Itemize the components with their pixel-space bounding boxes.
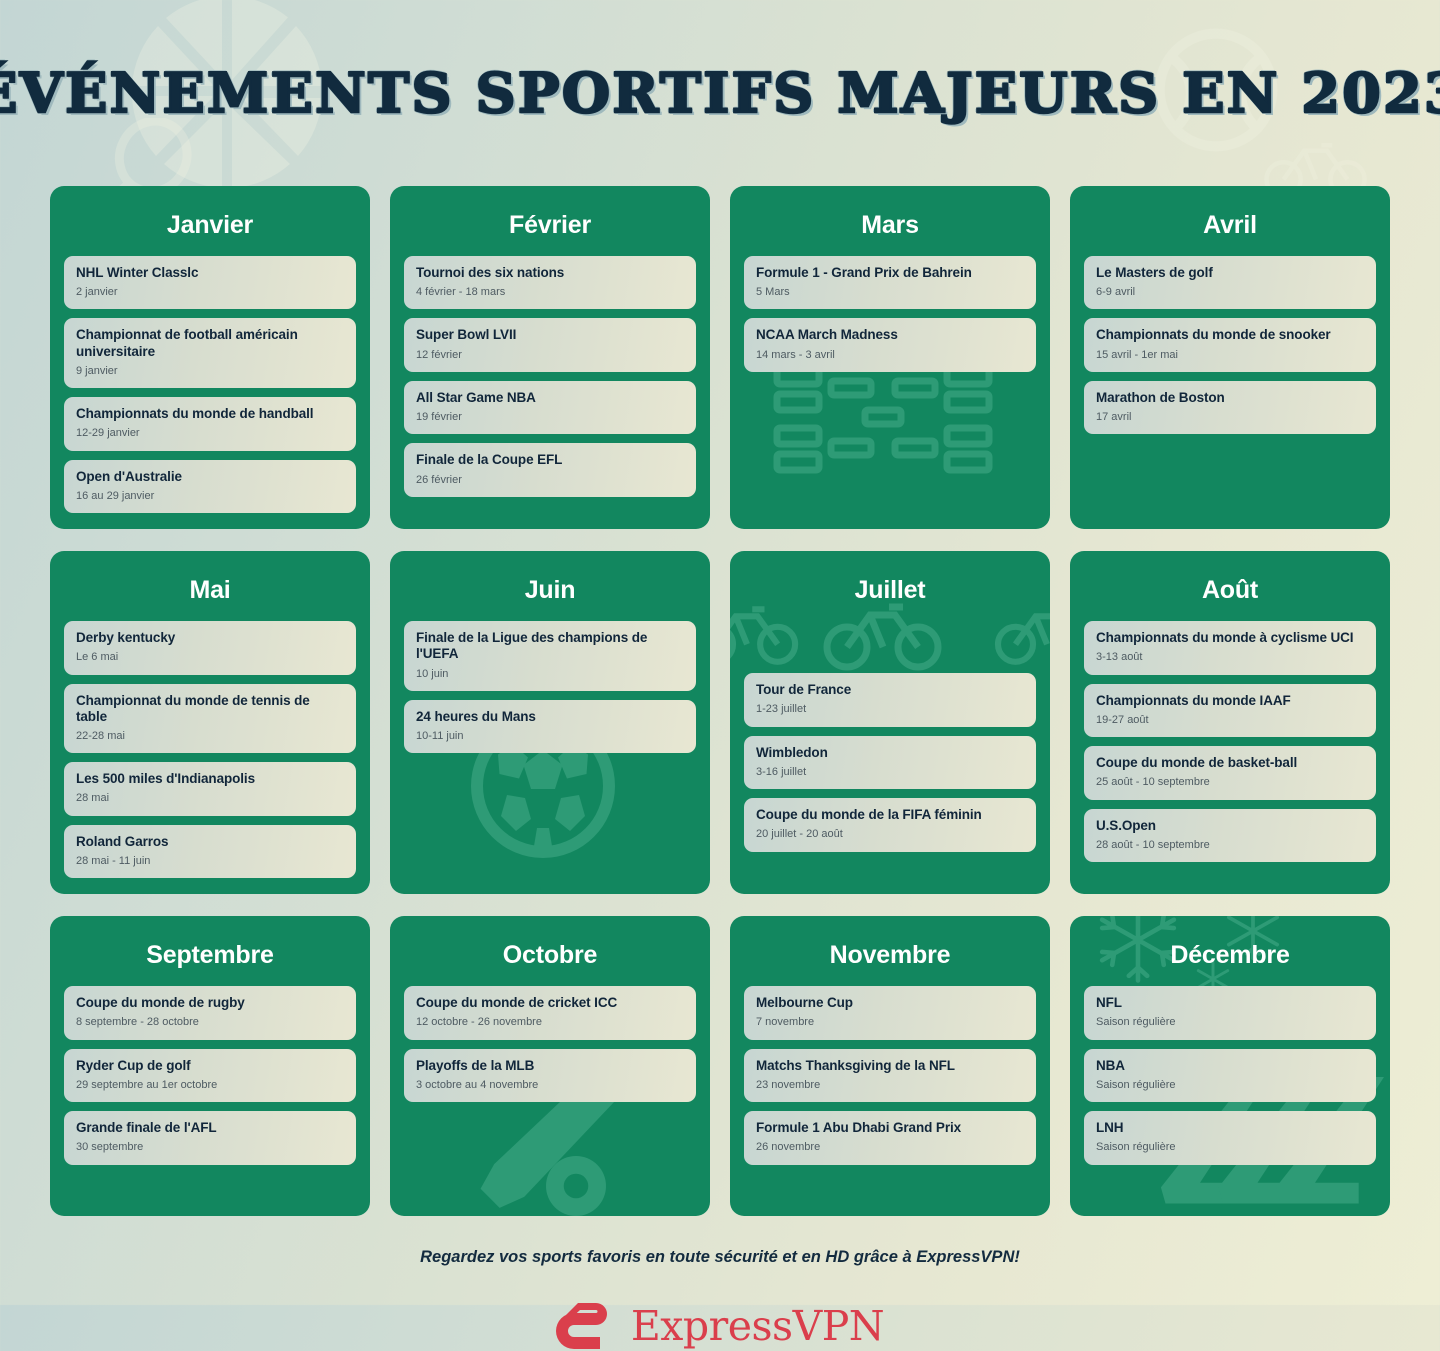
- event-name: Championnats du monde de snooker: [1096, 327, 1364, 343]
- event-name: Championnat du monde de tennis de table: [76, 693, 344, 725]
- event-item[interactable]: Finale de la Ligue des champions de l'UE…: [404, 621, 696, 691]
- event-item[interactable]: LNH Saison régulière: [1084, 1111, 1376, 1164]
- event-item[interactable]: Ryder Cup de golf 29 septembre au 1er oc…: [64, 1049, 356, 1102]
- month-title: Janvier: [64, 211, 356, 240]
- event-date: 26 février: [416, 473, 684, 487]
- event-item[interactable]: Derby kentucky Le 6 mai: [64, 621, 356, 674]
- event-item[interactable]: Championnats du monde à cyclisme UCI 3-1…: [1084, 621, 1376, 674]
- event-name: NCAA March Madness: [756, 327, 1024, 343]
- event-date: 17 avril: [1096, 410, 1364, 424]
- event-name: Matchs Thanksgiving de la NFL: [756, 1058, 1024, 1074]
- events-list: NFL Saison régulière NBA Saison régulièr…: [1084, 986, 1376, 1164]
- event-item[interactable]: Formule 1 Abu Dhabi Grand Prix 26 novemb…: [744, 1111, 1036, 1164]
- event-name: U.S.Open: [1096, 818, 1364, 834]
- event-date: 28 août - 10 septembre: [1096, 838, 1364, 852]
- event-item[interactable]: Le Masters de golf 6-9 avril: [1084, 256, 1376, 309]
- event-item[interactable]: Coupe du monde de basket-ball 25 août - …: [1084, 746, 1376, 799]
- expressvpn-mark-icon: [556, 1301, 618, 1351]
- events-list: Le Masters de golf 6-9 avril Championnat…: [1084, 256, 1376, 434]
- footer-tagline: Regardez vos sports favoris en toute séc…: [0, 1248, 1440, 1267]
- event-item[interactable]: All Star Game NBA 19 février: [404, 381, 696, 434]
- event-name: Coupe du monde de basket-ball: [1096, 755, 1364, 771]
- event-item[interactable]: Super Bowl LVII 12 février: [404, 318, 696, 371]
- event-date: 14 mars - 3 avril: [756, 348, 1024, 362]
- event-date: 7 novembre: [756, 1015, 1024, 1029]
- months-grid-row3: Septembre Coupe du monde de rugby 8 sept…: [0, 916, 1440, 1216]
- events-list: Formule 1 - Grand Prix de Bahrein 5 Mars…: [744, 256, 1036, 372]
- month-card-novembre: Novembre Melbourne Cup 7 novembre Matchs…: [730, 916, 1050, 1216]
- event-date: 12-29 janvier: [76, 426, 344, 440]
- event-name: 24 heures du Mans: [416, 709, 684, 725]
- bicycle-icon: [730, 597, 802, 667]
- event-item[interactable]: NCAA March Madness 14 mars - 3 avril: [744, 318, 1036, 371]
- bicycle-icon: [992, 597, 1050, 667]
- event-item[interactable]: Open d'Australie 16 au 29 janvier: [64, 460, 356, 513]
- event-name: Formule 1 Abu Dhabi Grand Prix: [756, 1120, 1024, 1136]
- event-name: Coupe du monde de rugby: [76, 995, 344, 1011]
- event-item[interactable]: Coupe du monde de la FIFA féminin 20 jui…: [744, 798, 1036, 851]
- event-item[interactable]: U.S.Open 28 août - 10 septembre: [1084, 809, 1376, 862]
- month-title: Août: [1084, 576, 1376, 605]
- event-date: 6-9 avril: [1096, 285, 1364, 299]
- event-name: Coupe du monde de cricket ICC: [416, 995, 684, 1011]
- event-date: 3-13 août: [1096, 650, 1364, 664]
- events-list: Finale de la Ligue des champions de l'UE…: [404, 621, 696, 753]
- months-grid-row1: Janvier NHL Winter Classlc 2 janvier Cha…: [0, 186, 1440, 529]
- event-item[interactable]: Les 500 miles d'Indianapolis 28 mai: [64, 762, 356, 815]
- events-list: Derby kentucky Le 6 mai Championnat du m…: [64, 621, 356, 878]
- event-item[interactable]: NHL Winter Classlc 2 janvier: [64, 256, 356, 309]
- month-card-octobre: Octobre Coupe du monde de cricket ICC 12…: [390, 916, 710, 1216]
- event-date: Saison régulière: [1096, 1015, 1364, 1029]
- event-item[interactable]: Matchs Thanksgiving de la NFL 23 novembr…: [744, 1049, 1036, 1102]
- events-list: Melbourne Cup 7 novembre Matchs Thanksgi…: [744, 986, 1036, 1164]
- event-date: 12 octobre - 26 novembre: [416, 1015, 684, 1029]
- event-name: Marathon de Boston: [1096, 390, 1364, 406]
- events-list: Coupe du monde de cricket ICC 12 octobre…: [404, 986, 696, 1102]
- month-title: Mars: [744, 211, 1036, 240]
- event-name: Le Masters de golf: [1096, 265, 1364, 281]
- expressvpn-logo[interactable]: ExpressVPN: [0, 1301, 1440, 1351]
- event-item[interactable]: Formule 1 - Grand Prix de Bahrein 5 Mars: [744, 256, 1036, 309]
- events-list: Tour de France 1-23 juillet Wimbledon 3-…: [744, 673, 1036, 851]
- event-date: 28 mai - 11 juin: [76, 854, 344, 868]
- event-date: 23 novembre: [756, 1078, 1024, 1092]
- events-list: Championnats du monde à cyclisme UCI 3-1…: [1084, 621, 1376, 862]
- event-item[interactable]: Melbourne Cup 7 novembre: [744, 986, 1036, 1039]
- event-name: Derby kentucky: [76, 630, 344, 646]
- event-name: NHL Winter Classlc: [76, 265, 344, 281]
- event-item[interactable]: Championnats du monde IAAF 19-27 août: [1084, 684, 1376, 737]
- event-name: Grande finale de l'AFL: [76, 1120, 344, 1136]
- month-title: Juillet: [744, 576, 1036, 605]
- month-title: Avril: [1084, 211, 1376, 240]
- event-date: 26 novembre: [756, 1140, 1024, 1154]
- event-name: Super Bowl LVII: [416, 327, 684, 343]
- events-list: NHL Winter Classlc 2 janvier Championnat…: [64, 256, 356, 513]
- event-item[interactable]: Championnats du monde de snooker 15 avri…: [1084, 318, 1376, 371]
- event-date: 15 avril - 1er mai: [1096, 348, 1364, 362]
- event-date: 12 février: [416, 348, 684, 362]
- event-name: Roland Garros: [76, 834, 344, 850]
- event-date: 10-11 juin: [416, 729, 684, 743]
- events-list: Coupe du monde de rugby 8 septembre - 28…: [64, 986, 356, 1164]
- event-name: Playoffs de la MLB: [416, 1058, 684, 1074]
- event-date: Le 6 mai: [76, 650, 344, 664]
- event-date: 20 juillet - 20 août: [756, 827, 1024, 841]
- months-grid-row2: Mai Derby kentucky Le 6 mai Championnat …: [0, 551, 1440, 894]
- event-name: Championnats du monde de handball: [76, 406, 344, 422]
- event-name: Championnats du monde à cyclisme UCI: [1096, 630, 1364, 646]
- tournament-bracket-icon: [772, 364, 994, 474]
- month-title: Juin: [404, 576, 696, 605]
- event-date: 22-28 mai: [76, 729, 344, 743]
- event-date: 16 au 29 janvier: [76, 489, 344, 503]
- event-date: 30 septembre: [76, 1140, 344, 1154]
- event-item[interactable]: Finale de la Coupe EFL 26 février: [404, 443, 696, 496]
- event-item[interactable]: Championnat du monde de tennis de table …: [64, 684, 356, 754]
- event-name: NBA: [1096, 1058, 1364, 1074]
- event-name: NFL: [1096, 995, 1364, 1011]
- event-date: 10 juin: [416, 667, 684, 681]
- month-card-janvier: Janvier NHL Winter Classlc 2 janvier Cha…: [50, 186, 370, 529]
- event-item[interactable]: Coupe du monde de rugby 8 septembre - 28…: [64, 986, 356, 1039]
- event-item[interactable]: Grande finale de l'AFL 30 septembre: [64, 1111, 356, 1164]
- event-name: Tour de France: [756, 682, 1024, 698]
- month-card-juillet: Juillet Tour de France 1-23 juillet Wimb…: [730, 551, 1050, 894]
- page-title: ÉVÉNEMENTS SPORTIFS MAJEURS EN 2023: [0, 61, 1440, 125]
- event-item[interactable]: Championnats du monde de handball 12-29 …: [64, 397, 356, 450]
- event-name: Tournoi des six nations: [416, 265, 684, 281]
- event-date: 3-16 juillet: [756, 765, 1024, 779]
- event-date: 19-27 août: [1096, 713, 1364, 727]
- page-header: ÉVÉNEMENTS SPORTIFS MAJEURS EN 2023: [0, 0, 1440, 186]
- month-card-juin: Juin Finale de la Ligue des champions de…: [390, 551, 710, 894]
- event-item[interactable]: 24 heures du Mans 10-11 juin: [404, 700, 696, 753]
- month-card-septembre: Septembre Coupe du monde de rugby 8 sept…: [50, 916, 370, 1216]
- month-card-avril: Avril Le Masters de golf 6-9 avril Champ…: [1070, 186, 1390, 529]
- event-name: Coupe du monde de la FIFA féminin: [756, 807, 1024, 823]
- event-item[interactable]: NBA Saison régulière: [1084, 1049, 1376, 1102]
- event-item[interactable]: Playoffs de la MLB 3 octobre au 4 novemb…: [404, 1049, 696, 1102]
- event-date: Saison régulière: [1096, 1078, 1364, 1092]
- event-item[interactable]: NFL Saison régulière: [1084, 986, 1376, 1039]
- event-item[interactable]: Tournoi des six nations 4 février - 18 m…: [404, 256, 696, 309]
- event-item[interactable]: Roland Garros 28 mai - 11 juin: [64, 825, 356, 878]
- event-item[interactable]: Marathon de Boston 17 avril: [1084, 381, 1376, 434]
- event-name: All Star Game NBA: [416, 390, 684, 406]
- expressvpn-wordmark: ExpressVPN: [631, 1302, 884, 1350]
- event-name: Championnat de football américain univer…: [76, 327, 344, 359]
- month-title: Novembre: [744, 941, 1036, 970]
- event-date: 28 mai: [76, 791, 344, 805]
- event-name: Les 500 miles d'Indianapolis: [76, 771, 344, 787]
- event-date: 4 février - 18 mars: [416, 285, 684, 299]
- event-name: LNH: [1096, 1120, 1364, 1136]
- event-name: Finale de la Coupe EFL: [416, 452, 684, 468]
- event-item[interactable]: Championnat de football américain univer…: [64, 318, 356, 388]
- event-item[interactable]: Coupe du monde de cricket ICC 12 octobre…: [404, 986, 696, 1039]
- event-date: 3 octobre au 4 novembre: [416, 1078, 684, 1092]
- event-date: 25 août - 10 septembre: [1096, 775, 1364, 789]
- event-name: Ryder Cup de golf: [76, 1058, 344, 1074]
- event-item[interactable]: Wimbledon 3-16 juillet: [744, 736, 1036, 789]
- event-name: Championnats du monde IAAF: [1096, 693, 1364, 709]
- month-title: Octobre: [404, 941, 696, 970]
- event-date: 5 Mars: [756, 285, 1024, 299]
- event-date: 19 février: [416, 410, 684, 424]
- event-date: 29 septembre au 1er octobre: [76, 1078, 344, 1092]
- month-card-mars: Mars Formule 1 - Grand Prix de Bahrein 5…: [730, 186, 1050, 529]
- event-date: Saison régulière: [1096, 1140, 1364, 1154]
- month-card-aout: Août Championnats du monde à cyclisme UC…: [1070, 551, 1390, 894]
- month-title: Mai: [64, 576, 356, 605]
- bicycle-icon: [818, 593, 948, 673]
- month-card-decembre: Décembre NFL Saison régulière NBA Saison…: [1070, 916, 1390, 1216]
- month-title: Février: [404, 211, 696, 240]
- events-list: Tournoi des six nations 4 février - 18 m…: [404, 256, 696, 497]
- event-name: Finale de la Ligue des champions de l'UE…: [416, 630, 684, 662]
- event-name: Open d'Australie: [76, 469, 344, 485]
- month-card-fevrier: Février Tournoi des six nations 4 févrie…: [390, 186, 710, 529]
- month-card-mai: Mai Derby kentucky Le 6 mai Championnat …: [50, 551, 370, 894]
- event-name: Formule 1 - Grand Prix de Bahrein: [756, 265, 1024, 281]
- month-title: Septembre: [64, 941, 356, 970]
- month-title: Décembre: [1084, 941, 1376, 970]
- event-date: 2 janvier: [76, 285, 344, 299]
- event-date: 8 septembre - 28 octobre: [76, 1015, 344, 1029]
- event-name: Wimbledon: [756, 745, 1024, 761]
- event-date: 9 janvier: [76, 364, 344, 378]
- event-date: 1-23 juillet: [756, 702, 1024, 716]
- event-item[interactable]: Tour de France 1-23 juillet: [744, 673, 1036, 726]
- event-name: Melbourne Cup: [756, 995, 1024, 1011]
